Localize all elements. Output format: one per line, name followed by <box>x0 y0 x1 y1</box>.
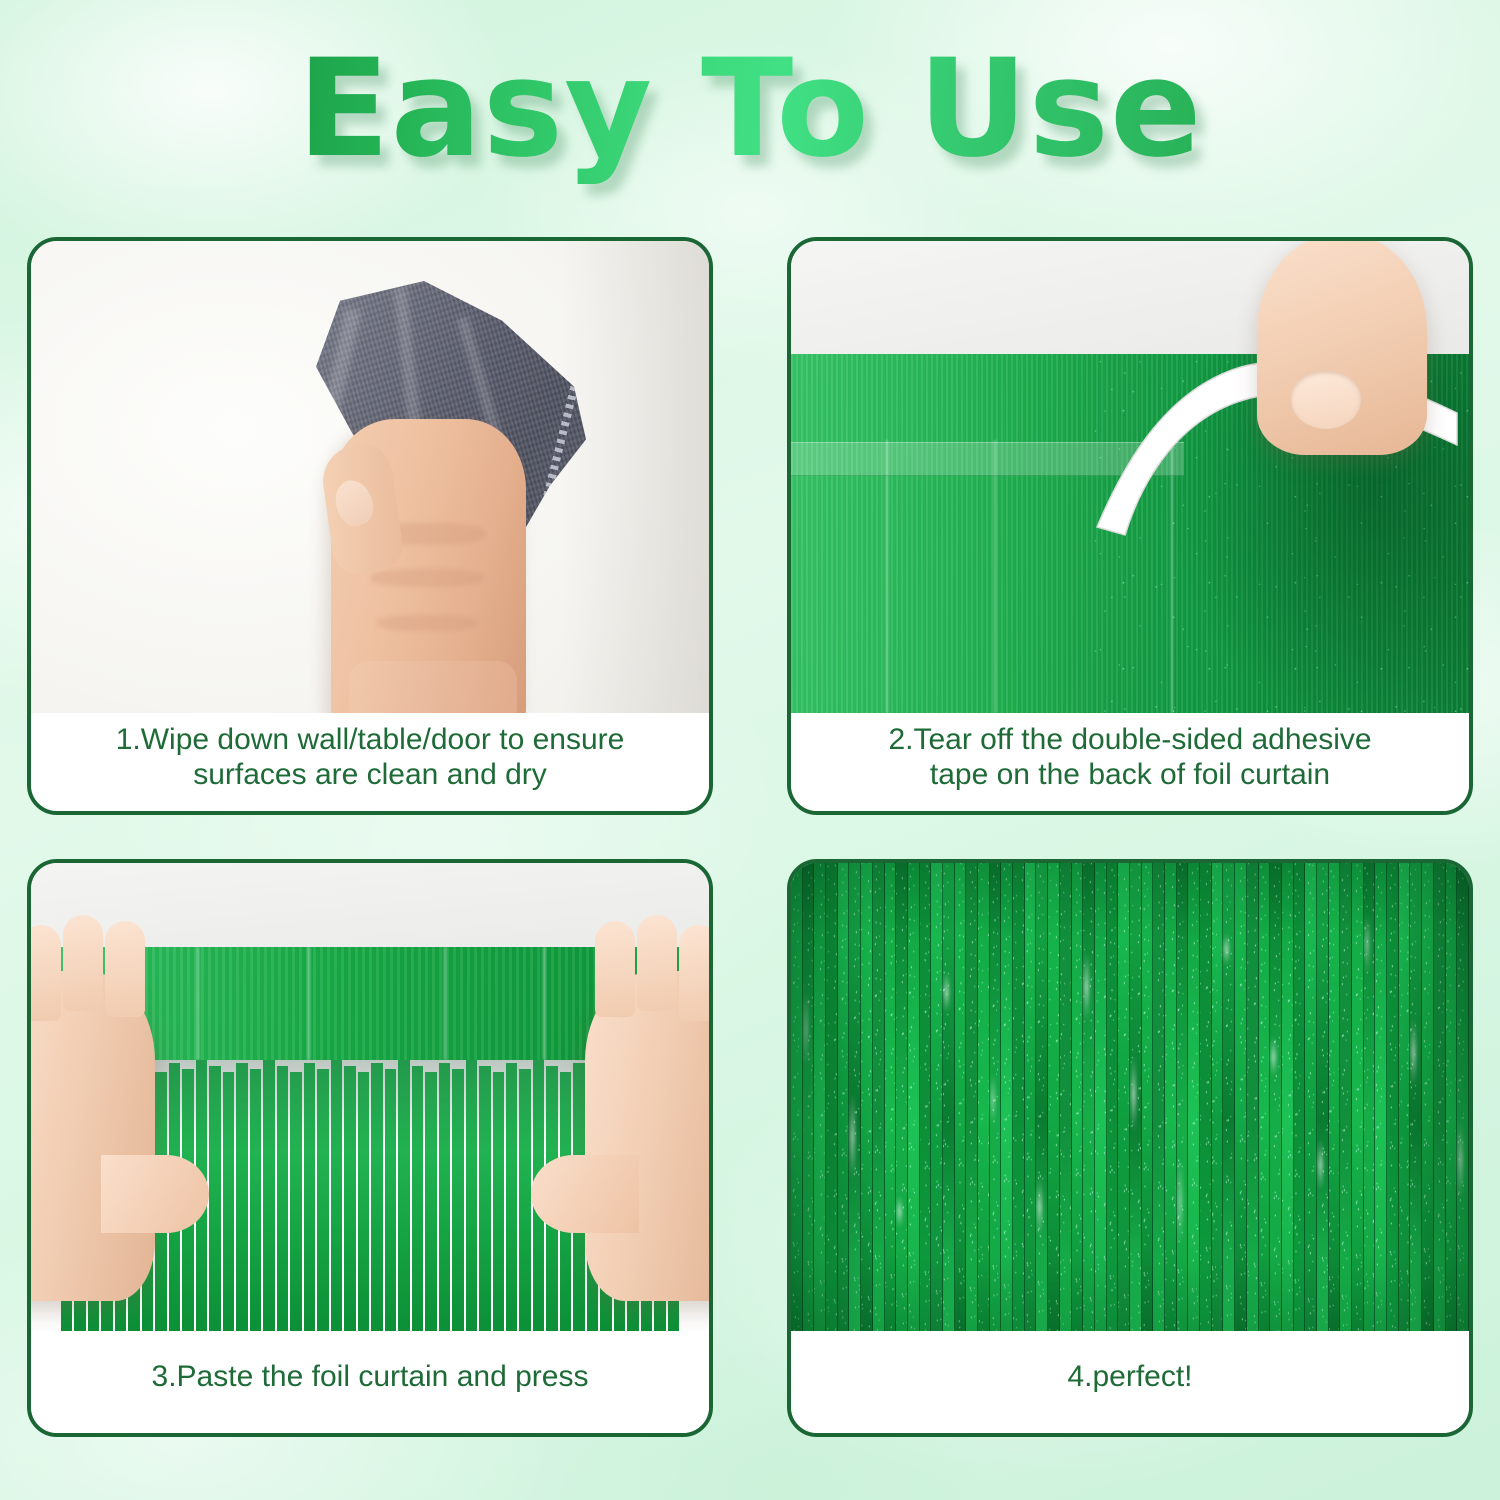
fringe-strip <box>493 1072 504 1331</box>
glitter-speckle <box>1200 863 1211 1331</box>
glitter-speckle <box>1001 863 1012 1331</box>
tinsel-strip <box>1142 863 1154 1331</box>
glitter-speckle <box>1317 863 1328 1331</box>
glitter-speckle <box>896 863 907 1331</box>
glitter-speckle <box>1446 863 1457 1331</box>
glitter-speckle <box>955 863 966 1331</box>
specular-highlight <box>1085 952 1088 1022</box>
tinsel-strip <box>955 863 967 1331</box>
glitter-speckle <box>920 863 931 1331</box>
fringe-strip <box>385 1069 396 1331</box>
step-caption-text-4: 4.perfect! <box>1067 1359 1192 1394</box>
glitter-speckle <box>1410 863 1421 1331</box>
fringe-strip <box>466 1060 477 1331</box>
glitter-speckle <box>966 863 977 1331</box>
step-caption-text-1: 1.Wipe down wall/table/door to ensure su… <box>116 722 625 793</box>
glitter-speckle <box>814 863 825 1331</box>
holographic-tinsel-curtain <box>791 863 1469 1331</box>
glitter-speckle <box>1165 863 1176 1331</box>
fringe-strip <box>250 1069 261 1331</box>
glitter-speckle <box>861 863 872 1331</box>
tinsel-strip <box>1153 863 1165 1331</box>
glitter-speckle <box>791 863 802 1331</box>
finger <box>63 915 103 1011</box>
fringe-strip <box>344 1066 355 1331</box>
specular-highlight <box>898 1195 901 1228</box>
glitter-speckle <box>1399 863 1410 1331</box>
glitter-speckle <box>1013 863 1024 1331</box>
glitter-speckle <box>1305 863 1316 1331</box>
glitter-speckle <box>1142 863 1153 1331</box>
step-card-2: 2.Tear off the double-sided adhesive tap… <box>787 237 1473 815</box>
page-title-text: Easy To Use <box>0 34 1500 184</box>
specular-highlight <box>1132 1055 1135 1135</box>
glitter-speckle <box>803 863 814 1331</box>
tinsel-strip <box>1036 863 1048 1331</box>
tinsel-strip <box>791 863 803 1331</box>
step-caption-2: 2.Tear off the double-sided adhesive tap… <box>791 713 1469 811</box>
glitter-speckle <box>978 863 989 1331</box>
glitter-speckle <box>1270 863 1281 1331</box>
tinsel-strip <box>1259 863 1271 1331</box>
tinsel-strip <box>849 863 861 1331</box>
fringe-strip <box>223 1072 234 1331</box>
tinsel-strip <box>943 863 955 1331</box>
tinsel-strip <box>966 863 978 1331</box>
glitter-speckle <box>1457 863 1468 1331</box>
step-card-3: 3.Paste the foil curtain and press <box>27 859 713 1437</box>
glitter-speckle <box>1072 863 1083 1331</box>
glitter-speckle <box>1434 863 1445 1331</box>
glitter-speckle <box>1153 863 1164 1331</box>
glitter-speckle <box>826 863 837 1331</box>
glitter-speckle <box>1387 863 1398 1331</box>
right-hand-pressing <box>585 971 709 1301</box>
tinsel-strip <box>1060 863 1072 1331</box>
step-photo-press-curtain <box>31 863 709 1331</box>
tinsel-strip <box>1410 863 1422 1331</box>
glitter-speckle <box>885 863 896 1331</box>
thumbnail <box>330 476 378 531</box>
glitter-speckle <box>1188 863 1199 1331</box>
glitter-speckle <box>873 863 884 1331</box>
page-title: Easy To Use Easy To Use <box>0 34 1500 194</box>
fingernail <box>1291 371 1361 429</box>
tinsel-strip <box>1422 863 1434 1331</box>
fringe-strip <box>398 1060 409 1331</box>
fringe-strip <box>263 1060 274 1331</box>
step-caption-4: 4.perfect! <box>791 1331 1469 1433</box>
glitter-speckle <box>931 863 942 1331</box>
glitter-speckle <box>1294 863 1305 1331</box>
tinsel-strip <box>1200 863 1212 1331</box>
fringe-strip <box>290 1072 301 1331</box>
tinsel-strip <box>1118 863 1130 1331</box>
tinsel-strip <box>1399 863 1411 1331</box>
glitter-speckle <box>1048 863 1059 1331</box>
foil-crease <box>543 947 545 1059</box>
tinsel-strip <box>908 863 920 1331</box>
tinsel-strip <box>1072 863 1084 1331</box>
fringe-strip <box>425 1072 436 1331</box>
fringe-strip <box>479 1066 490 1331</box>
specular-highlight <box>1459 1120 1462 1200</box>
tinsel-strip <box>803 863 815 1331</box>
finger <box>595 921 635 1017</box>
finger-pulling-tape <box>1257 241 1427 455</box>
finger <box>679 925 709 1021</box>
glitter-speckle <box>1282 863 1293 1331</box>
foil-crease <box>308 947 310 1059</box>
tinsel-strip <box>1352 863 1364 1331</box>
step-caption-text-3: 3.Paste the foil curtain and press <box>152 1359 589 1394</box>
fringe-strip <box>452 1069 463 1331</box>
glitter-speckle <box>1177 863 1188 1331</box>
tinsel-strip <box>920 863 932 1331</box>
fringe-strip <box>506 1063 517 1331</box>
fringe-strip <box>209 1066 220 1331</box>
step-caption-3: 3.Paste the foil curtain and press <box>31 1331 709 1433</box>
step-photo-wipe-wall <box>31 241 709 713</box>
steps-grid: 1.Wipe down wall/table/door to ensure su… <box>27 237 1473 1437</box>
foil-crease <box>444 947 446 1059</box>
fringe-strip <box>358 1072 369 1331</box>
glitter-speckle <box>1107 863 1118 1331</box>
finger <box>31 925 61 1021</box>
glitter-speckle <box>1259 863 1270 1331</box>
wrist <box>349 661 517 713</box>
tinsel-strip <box>814 863 826 1331</box>
tinsel-strip <box>1130 863 1142 1331</box>
finger <box>105 921 145 1017</box>
tinsel-strip <box>1212 863 1224 1331</box>
tinsel-strip <box>1188 863 1200 1331</box>
fringe-strip <box>371 1063 382 1331</box>
glitter-speckle <box>1036 863 1047 1331</box>
fringe-strip <box>304 1063 315 1331</box>
tinsel-strip <box>1107 863 1119 1331</box>
tinsel-strip <box>1294 863 1306 1331</box>
fringe-strip <box>519 1069 530 1331</box>
thumb <box>318 441 405 577</box>
tinsel-strip <box>1364 863 1376 1331</box>
glitter-speckle <box>1025 863 1036 1331</box>
tinsel-strip <box>838 863 850 1331</box>
step-card-1: 1.Wipe down wall/table/door to ensure su… <box>27 237 713 815</box>
glitter-speckle <box>1060 863 1071 1331</box>
tinsel-strip <box>1165 863 1177 1331</box>
tinsel-strip <box>873 863 885 1331</box>
knuckle-crease <box>371 569 483 587</box>
glitter-speckle <box>1375 863 1386 1331</box>
glitter-speckle <box>908 863 919 1331</box>
glitter-speckle <box>1247 863 1258 1331</box>
tinsel-strip <box>1013 863 1025 1331</box>
tinsel-strip <box>1457 863 1469 1331</box>
glitter-speckle <box>1083 863 1094 1331</box>
wall-shadow <box>560 241 709 713</box>
tinsel-strip <box>1282 863 1294 1331</box>
tinsel-strip <box>1375 863 1387 1331</box>
glitter-speckle <box>1329 863 1340 1331</box>
step-caption-text-2: 2.Tear off the double-sided adhesive tap… <box>888 722 1371 793</box>
glitter-speckle <box>1118 863 1129 1331</box>
tinsel-strip <box>1305 863 1317 1331</box>
tinsel-strip <box>1177 863 1189 1331</box>
tinsel-strip <box>861 863 873 1331</box>
thumb <box>101 1155 209 1233</box>
tinsel-strip <box>1235 863 1247 1331</box>
tinsel-strip <box>1340 863 1352 1331</box>
glitter-speckle <box>1340 863 1351 1331</box>
tinsel-strip <box>1025 863 1037 1331</box>
knuckle-crease <box>377 615 477 631</box>
tinsel-strip <box>1434 863 1446 1331</box>
tinsel-strip <box>1317 863 1329 1331</box>
fringe-strip <box>439 1063 450 1331</box>
specular-highlight <box>1272 1036 1275 1078</box>
glitter-speckle <box>1235 863 1246 1331</box>
tinsel-strip <box>826 863 838 1331</box>
specular-highlight <box>1319 1139 1322 1190</box>
thumb <box>531 1155 639 1233</box>
fringe-strip <box>412 1066 423 1331</box>
step-card-4: 4.perfect! <box>787 859 1473 1437</box>
fringe-strip <box>277 1066 288 1331</box>
foil-crease <box>886 440 888 713</box>
specular-highlight <box>945 971 948 1013</box>
glitter-speckle <box>838 863 849 1331</box>
fringe-strip <box>236 1063 247 1331</box>
tinsel-strip <box>1083 863 1095 1331</box>
tinsel-strip <box>1270 863 1282 1331</box>
fringe-strip <box>331 1060 342 1331</box>
glitter-speckle <box>1422 863 1433 1331</box>
glitter-speckle <box>1095 863 1106 1331</box>
finger <box>637 915 677 1011</box>
tinsel-strip <box>1387 863 1399 1331</box>
step-photo-peel-tape <box>791 241 1469 713</box>
tinsel-strip <box>1001 863 1013 1331</box>
tinsel-strip <box>1247 863 1259 1331</box>
tinsel-strip <box>931 863 943 1331</box>
tinsel-strip <box>896 863 908 1331</box>
tinsel-strip <box>990 863 1002 1331</box>
glitter-speckle <box>1352 863 1363 1331</box>
tinsel-strip <box>978 863 990 1331</box>
left-hand-pressing <box>31 971 155 1301</box>
foil-crease <box>994 440 996 713</box>
tinsel-strip <box>1048 863 1060 1331</box>
tinsel-strip <box>1446 863 1458 1331</box>
glitter-speckle <box>1212 863 1223 1331</box>
tinsel-strip <box>1329 863 1341 1331</box>
tinsel-strip <box>885 863 897 1331</box>
fringe-strip <box>317 1069 328 1331</box>
step-photo-finished-curtain <box>791 863 1469 1331</box>
glitter-speckle <box>943 863 954 1331</box>
step-caption-1: 1.Wipe down wall/table/door to ensure su… <box>31 713 709 811</box>
tinsel-strip <box>1223 863 1235 1331</box>
foil-crease <box>197 947 199 1059</box>
tinsel-strip <box>1095 863 1107 1331</box>
